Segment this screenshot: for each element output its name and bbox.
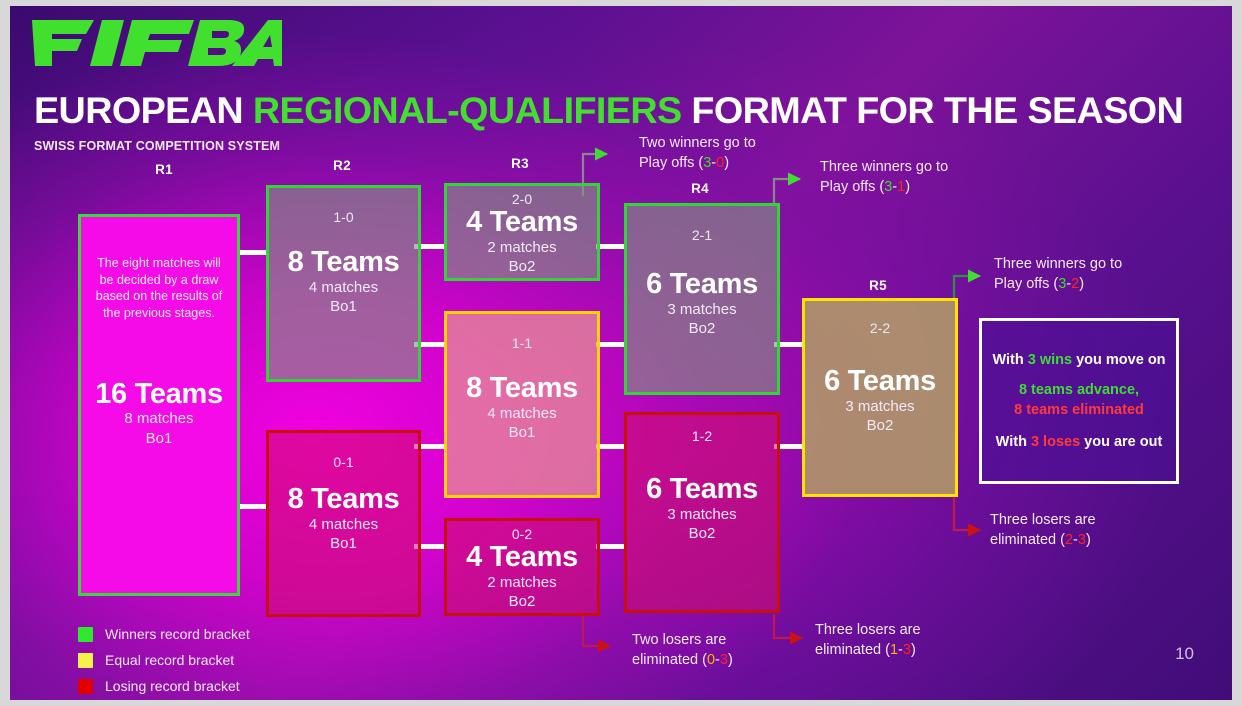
bracket-box-r3-bottom[interactable]: 0-2 4 Teams 2 matches Bo2 <box>444 518 600 616</box>
r4-bottom-teams: 6 Teams <box>646 474 758 504</box>
connector-r3top-to-r4top <box>596 244 624 249</box>
round-label-r4: R4 <box>624 181 776 196</box>
title-part2: FORMAT FOR THE SEASON <box>682 90 1184 131</box>
r4-top-format: Bo2 <box>689 319 716 338</box>
legend-label-equal: Equal record bracket <box>105 652 234 668</box>
r3-bottom-matches: 2 matches <box>487 573 556 592</box>
bracket-box-r1[interactable]: The eight matches will be decided by a d… <box>78 214 240 596</box>
summary-wins-highlight: 3 wins <box>1028 352 1072 368</box>
co30-a: Play offs ( <box>639 155 703 171</box>
callout-losers-0-3-line1: Two losers are <box>632 631 733 651</box>
callout-winners-3-1-line2: Play offs (3-1) <box>820 178 948 198</box>
co23-s1: 2 <box>1065 532 1073 548</box>
r3-bottom-teams: 4 Teams <box>466 542 578 572</box>
r5-format: Bo2 <box>867 416 894 435</box>
co32-s2: 2 <box>1071 276 1079 292</box>
page-number: 10 <box>1175 644 1194 664</box>
callout-winners-3-2: Three winners go to Play offs (3-2) <box>994 255 1122 294</box>
summary-line-wins: With 3 wins you move on <box>992 352 1165 368</box>
co30-s2: 0 <box>716 155 724 171</box>
callout-winners-3-2-line2: Play offs (3-2) <box>994 275 1122 295</box>
r2-top-teams: 8 Teams <box>288 247 400 277</box>
r3-mid-teams: 8 Teams <box>466 373 578 403</box>
r3-mid-format: Bo1 <box>509 423 536 442</box>
callout-losers-1-3-line2: eliminated (1-3) <box>815 641 921 661</box>
r3-top-matches: 2 matches <box>487 238 556 257</box>
r5-matches: 3 matches <box>845 397 914 416</box>
r1-teams: 16 Teams <box>95 379 223 409</box>
bracket-box-r2-top[interactable]: 1-0 8 Teams 4 matches Bo1 <box>266 185 421 382</box>
r3-top-record: 2-0 <box>512 192 532 207</box>
co31-b: ) <box>905 179 910 195</box>
legend: Winners record bracket Equal record brac… <box>78 621 250 699</box>
summary-loses-b: you are out <box>1080 434 1162 450</box>
callout-winners-3-0-line2: Play offs (3-0) <box>639 154 756 174</box>
co31-s2: 1 <box>897 179 905 195</box>
r5-teams: 6 Teams <box>824 366 936 396</box>
co31-a: Play offs ( <box>820 179 884 195</box>
r3-top-teams: 4 Teams <box>466 207 578 237</box>
round-label-r5: R5 <box>802 278 954 293</box>
legend-swatch-losing <box>78 679 93 694</box>
co13-s1: 1 <box>890 642 898 658</box>
bracket-box-r2-bottom[interactable]: 0-1 8 Teams 4 matches Bo1 <box>266 430 421 617</box>
co23-a: eliminated ( <box>990 532 1065 548</box>
callout-winners-3-0-line1: Two winners go to <box>639 134 756 154</box>
r4-bottom-format: Bo2 <box>689 524 716 543</box>
r4-bottom-matches: 3 matches <box>667 505 736 524</box>
callout-losers-2-3-line1: Three losers are <box>990 511 1096 531</box>
co13-s2: 3 <box>903 642 911 658</box>
r3-mid-record: 1-1 <box>512 336 532 351</box>
r2-top-format: Bo1 <box>330 297 357 316</box>
title-highlight: REGIONAL-QUALIFIERS <box>253 90 682 131</box>
co03-s1: 0 <box>707 652 715 668</box>
r4-bottom-record: 1-2 <box>692 429 712 444</box>
slide-canvas: EUROPEAN REGIONAL-QUALIFIERS FORMAT FOR … <box>10 6 1232 700</box>
r4-top-teams: 6 Teams <box>646 269 758 299</box>
co13-a: eliminated ( <box>815 642 890 658</box>
r5-record: 2-2 <box>870 321 890 336</box>
r1-note: The eight matches will be decided by a d… <box>81 255 237 321</box>
r1-matches: 8 matches <box>124 409 193 428</box>
bracket-box-r4-top[interactable]: 2-1 6 Teams 3 matches Bo2 <box>624 203 780 395</box>
round-label-r1: R1 <box>86 162 242 177</box>
r3-top-format: Bo2 <box>509 257 536 276</box>
r2-bottom-format: Bo1 <box>330 534 357 553</box>
page-title: EUROPEAN REGIONAL-QUALIFIERS FORMAT FOR … <box>34 90 1183 132</box>
callout-losers-0-3-line2: eliminated (0-3) <box>632 651 733 671</box>
callout-losers-2-3: Three losers are eliminated (2-3) <box>990 511 1096 550</box>
callout-losers-1-3-line1: Three losers are <box>815 621 921 641</box>
callout-winners-3-1-line1: Three winners go to <box>820 158 948 178</box>
title-part1: EUROPEAN <box>34 90 253 131</box>
r4-top-matches: 3 matches <box>667 300 736 319</box>
co03-s2: 3 <box>720 652 728 668</box>
r4-top-record: 2-1 <box>692 228 712 243</box>
summary-loses-a: With <box>996 434 1031 450</box>
r2-top-record: 1-0 <box>333 210 353 225</box>
bracket-box-r5[interactable]: 2-2 6 Teams 3 matches Bo2 <box>802 298 958 497</box>
bracket-box-r3-top[interactable]: 2-0 4 Teams 2 matches Bo2 <box>444 183 600 281</box>
summary-line-loses: With 3 loses you are out <box>996 434 1163 450</box>
r2-bottom-teams: 8 Teams <box>288 484 400 514</box>
co03-b: ) <box>728 652 733 668</box>
summary-loses-highlight: 3 loses <box>1031 434 1080 450</box>
co30-b: ) <box>724 155 729 171</box>
co03-a: eliminated ( <box>632 652 707 668</box>
round-label-r2: R2 <box>266 158 418 173</box>
r2-bottom-matches: 4 matches <box>309 515 378 534</box>
legend-item-winners: Winners record bracket <box>78 621 250 647</box>
summary-line-counts: 8 teams advance, 8 teams eliminated <box>1014 381 1144 420</box>
legend-item-losing: Losing record bracket <box>78 673 250 699</box>
round-label-r3: R3 <box>444 156 596 171</box>
callout-winners-3-2-line1: Three winners go to <box>994 255 1122 275</box>
r2-top-matches: 4 matches <box>309 278 378 297</box>
co32-b: ) <box>1079 276 1084 292</box>
callout-losers-2-3-line2: eliminated (2-3) <box>990 531 1096 551</box>
co32-a: Play offs ( <box>994 276 1058 292</box>
r3-mid-matches: 4 matches <box>487 404 556 423</box>
connector-r3mid-to-r4top <box>596 342 624 347</box>
callout-losers-0-3: Two losers are eliminated (0-3) <box>632 631 733 670</box>
r1-format: Bo1 <box>146 429 173 448</box>
bracket-box-r4-bottom[interactable]: 1-2 6 Teams 3 matches Bo2 <box>624 412 780 613</box>
legend-item-equal: Equal record bracket <box>78 647 250 673</box>
r3-bottom-record: 0-2 <box>512 527 532 542</box>
connector-r3mid-to-r4bot <box>596 444 624 449</box>
legend-swatch-equal <box>78 653 93 668</box>
page-subtitle: SWISS FORMAT COMPETITION SYSTEM <box>34 139 280 153</box>
summary-advance: 8 teams advance, <box>1014 381 1144 401</box>
legend-label-losing: Losing record bracket <box>105 678 240 694</box>
summary-wins-b: you move on <box>1072 352 1165 368</box>
summary-panel: With 3 wins you move on 8 teams advance,… <box>979 318 1179 484</box>
legend-label-winners: Winners record bracket <box>105 626 250 642</box>
co23-s2: 3 <box>1078 532 1086 548</box>
legend-swatch-winners <box>78 627 93 642</box>
connector-r3bot-to-r4bot <box>596 544 624 549</box>
summary-eliminated: 8 teams eliminated <box>1014 401 1144 421</box>
co23-b: ) <box>1086 532 1091 548</box>
r3-bottom-format: Bo2 <box>509 592 536 611</box>
summary-wins-a: With <box>992 352 1027 368</box>
callout-winners-3-1: Three winners go to Play offs (3-1) <box>820 158 948 197</box>
callout-losers-1-3: Three losers are eliminated (1-3) <box>815 621 921 660</box>
co13-b: ) <box>911 642 916 658</box>
bracket-box-r3-mid[interactable]: 1-1 8 Teams 4 matches Bo1 <box>444 311 600 498</box>
r2-bottom-record: 0-1 <box>333 455 353 470</box>
fiba-logo <box>32 14 282 72</box>
callout-winners-3-0: Two winners go to Play offs (3-0) <box>639 134 756 173</box>
